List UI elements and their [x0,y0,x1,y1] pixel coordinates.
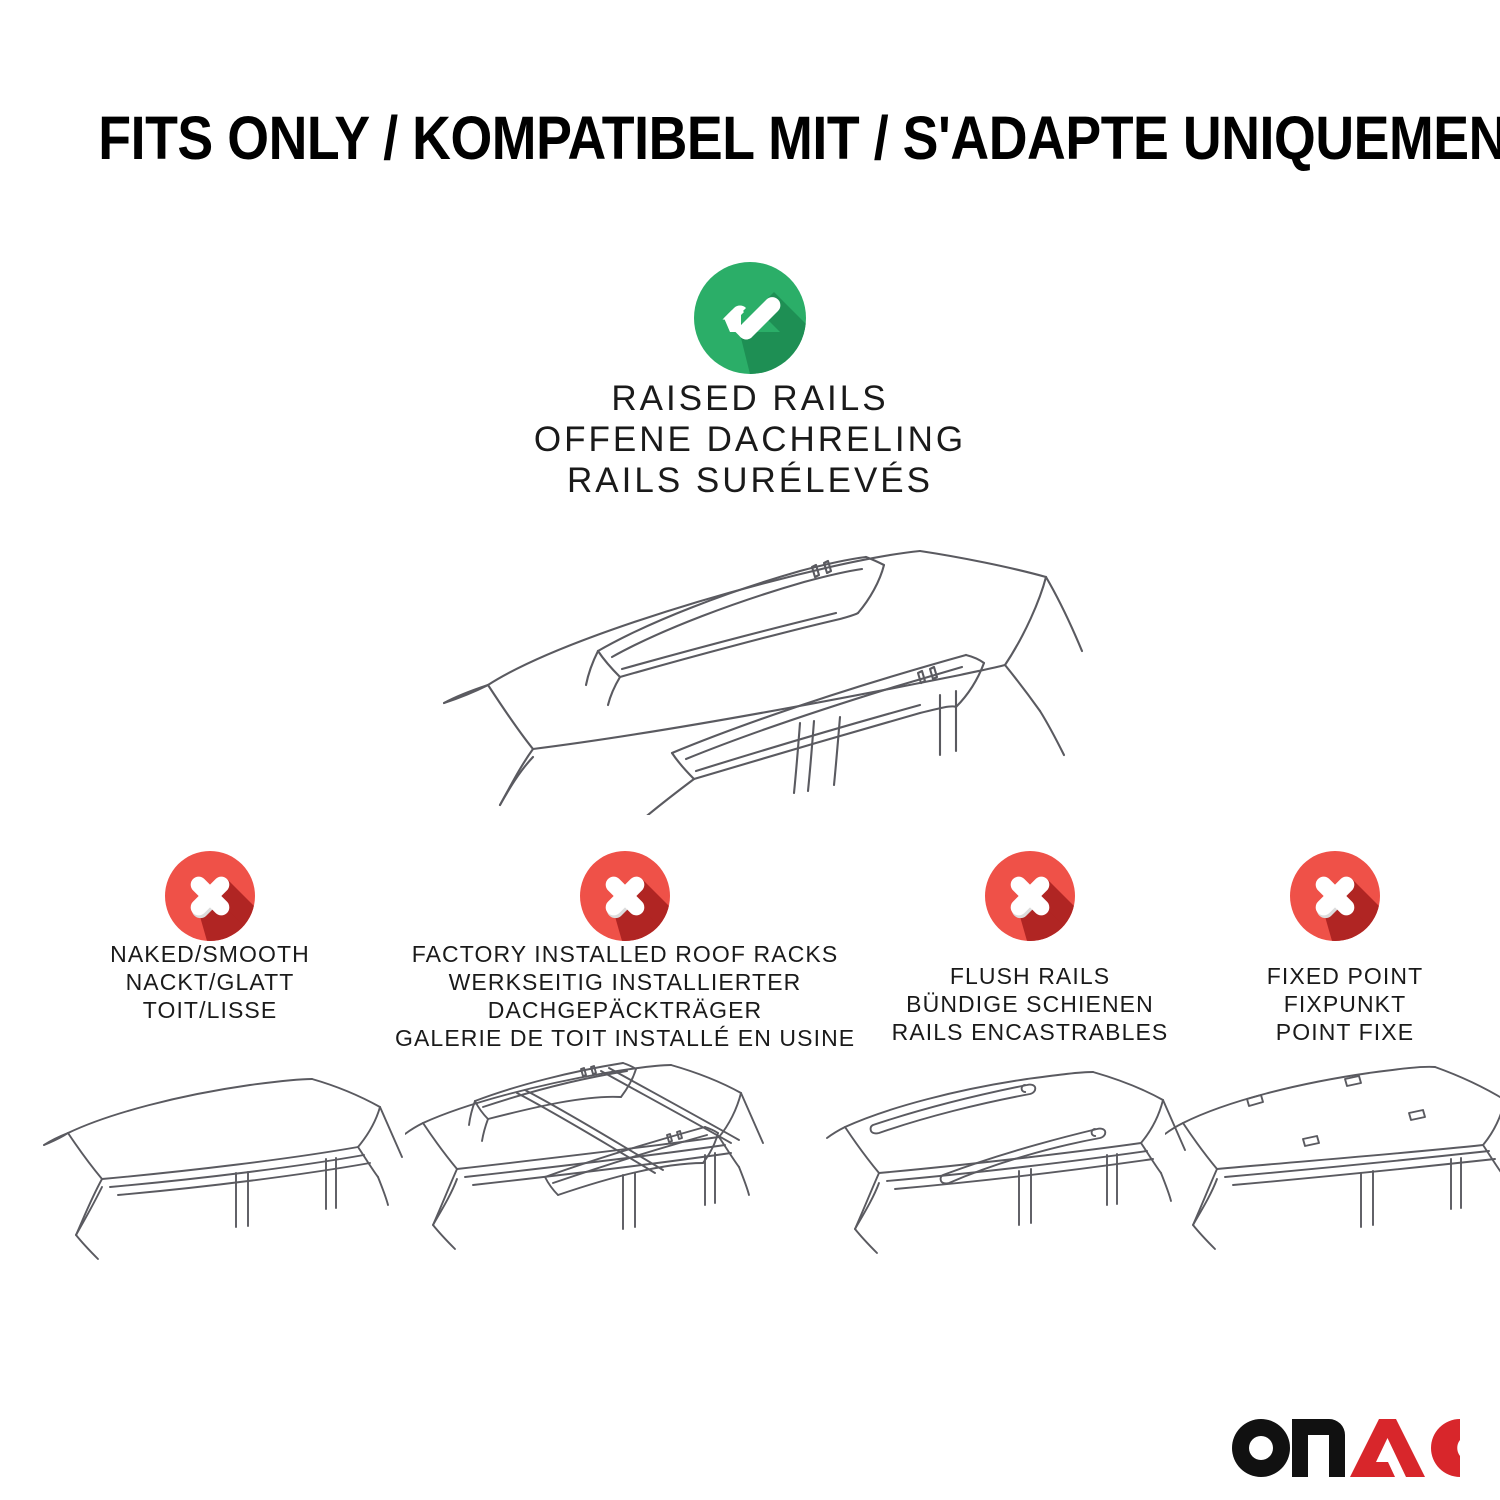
compatible-label-line-fr: RAILS SURÉLEVÉS [0,460,1500,501]
logo-letter-a [1350,1419,1425,1477]
label-line-en: FLUSH RAILS [860,962,1200,990]
incompatible-badge-fixed-point [1290,851,1380,941]
page-title: FITS ONLY / KOMPATIBEL MIT / S'ADAPTE UN… [0,108,1500,169]
incompatible-item-flush-rails: FLUSH RAILS BÜNDIGE SCHIENEN RAILS ENCAS… [860,962,1200,1046]
incompatible-item-fixed-point: FIXED POINT FIXPUNKT POINT FIXE [1205,962,1485,1046]
label-line-de: FIXPUNKT [1205,990,1485,1018]
label-line-fr: RAILS ENCASTRABLES [860,1018,1200,1046]
compatible-badge [694,262,806,374]
logo-letter-m [1292,1419,1345,1477]
incompatible-item-factory-roof-racks: FACTORY INSTALLED ROOF RACKS WERKSEITIG … [395,940,855,1052]
label-line-fr: GALERIE DE TOIT INSTALLÉ EN USINE [395,1024,855,1052]
label-line-en: NAKED/SMOOTH [60,940,360,968]
cross-icon [165,851,255,941]
car-roof-fixed-point-illustration [1165,1055,1500,1300]
omac-logo [1228,1408,1460,1480]
page-title-text: FITS ONLY / KOMPATIBEL MIT / S'ADAPTE UN… [98,108,1500,169]
compatible-label: RAISED RAILS OFFENE DACHRELING RAILS SUR… [0,378,1500,501]
check-icon [694,262,806,374]
compatible-label-line-en: RAISED RAILS [0,378,1500,419]
incompatible-badge-flush-rails [985,851,1075,941]
incompatible-badge-naked-smooth [165,851,255,941]
car-roof-flush-rails-illustration [825,1055,1215,1300]
label-line-en: FACTORY INSTALLED ROOF RACKS [395,940,855,968]
cross-icon [580,851,670,941]
label-line-fr: POINT FIXE [1205,1018,1485,1046]
car-roof-factory-roof-racks-illustration [405,1055,795,1300]
label-line-fr: TOIT/LISSE [60,996,360,1024]
label-line-de: BÜNDIGE SCHIENEN [860,990,1200,1018]
car-roof-naked-smooth-illustration [40,1055,420,1300]
cross-icon [1290,851,1380,941]
label-line-de-2: DACHGEPÄCKTRÄGER [395,996,855,1024]
label-line-en: FIXED POINT [1205,962,1485,990]
incompatible-item-naked-smooth: NAKED/SMOOTH NACKT/GLATT TOIT/LISSE [60,940,360,1024]
label-line-de-1: WERKSEITIG INSTALLIERTER [395,968,855,996]
incompatible-badge-factory-roof-racks [580,851,670,941]
cross-icon [985,851,1075,941]
car-roof-raised-rails-illustration [400,505,1100,815]
compatible-label-line-de: OFFENE DACHRELING [0,419,1500,460]
label-line-de: NACKT/GLATT [60,968,360,996]
